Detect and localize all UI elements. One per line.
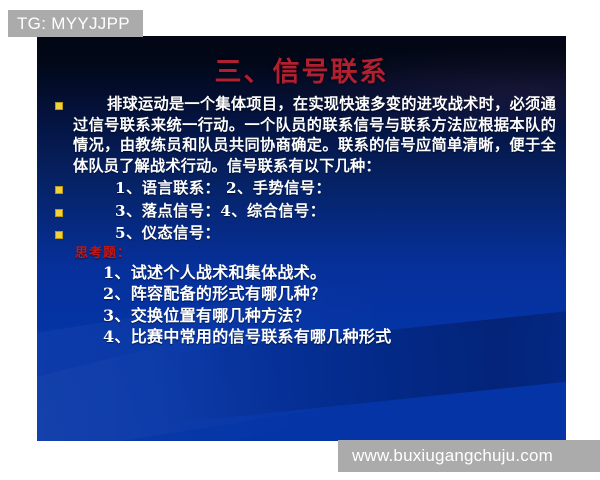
signal-item-label: 3、落点信号：4、综合信号： [73,201,556,222]
tg-tag-banner: TG: MYYJJPP [8,10,143,37]
square-bullet-icon [55,102,63,110]
presentation-slide: 三、信号联系 排球运动是一个集体项目，在实现快速多变的进攻战术时，必须通过信号联… [37,36,566,441]
question-list: 1、试述个人战术和集体战术。 2、阵容配备的形式有哪几种？ 3、交换位置有哪几种… [55,262,556,348]
signal-item-row-1: 1、语言联系： 2、手势信号： [55,178,556,199]
question-item: 4、比赛中常用的信号联系有哪几种形式 [103,326,556,348]
intro-paragraph: 排球运动是一个集体项目，在实现快速多变的进攻战术时，必须通过信号联系来统一行动。… [73,94,556,176]
tg-tag-text: TG: MYYJJPP [17,14,130,34]
question-item: 1、试述个人战术和集体战术。 [103,262,556,284]
slide-title: 三、信号联系 [37,50,566,89]
square-bullet-icon [55,209,63,217]
paragraph-bullet-row: 排球运动是一个集体项目，在实现快速多变的进攻战术时，必须通过信号联系来统一行动。… [55,94,556,176]
signal-item-label: 5、仪态信号： [73,223,556,244]
signal-item-row-2: 3、落点信号：4、综合信号： [55,201,556,222]
question-item: 3、交换位置有哪几种方法？ [103,305,556,327]
signal-item-row-3: 5、仪态信号： [55,223,556,244]
signal-item-label: 1、语言联系： 2、手势信号： [73,178,556,199]
thinking-questions-heading: 思考题： [75,242,556,261]
square-bullet-icon [55,231,63,239]
watermark-banner: www.buxiugangchuju.com [338,440,600,472]
square-bullet-icon [55,186,63,194]
slide-content: 排球运动是一个集体项目，在实现快速多变的进攻战术时，必须通过信号联系来统一行动。… [37,94,566,348]
watermark-url-text: www.buxiugangchuju.com [352,446,553,466]
question-item: 2、阵容配备的形式有哪几种？ [103,283,556,305]
